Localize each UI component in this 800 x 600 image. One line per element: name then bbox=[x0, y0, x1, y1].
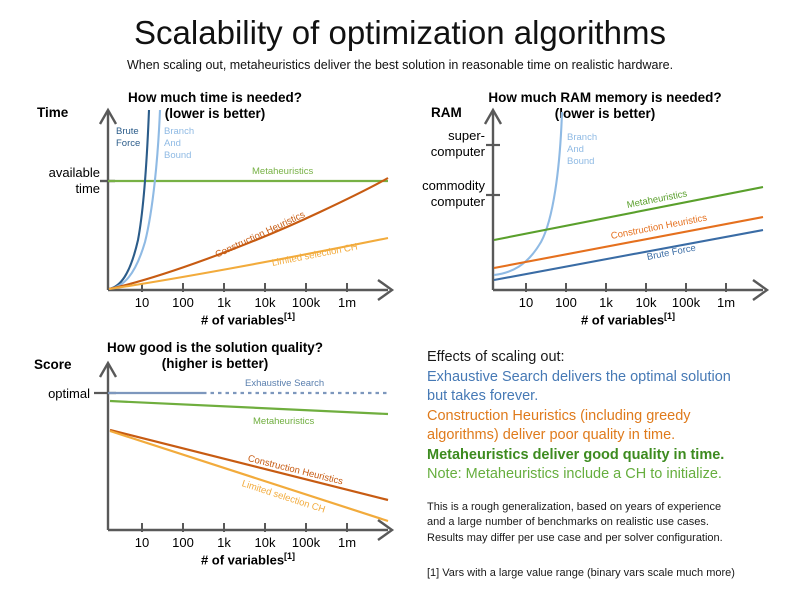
time-label-brute-force: BruteForce bbox=[116, 126, 140, 150]
time-label-metaheuristics: Metaheuristics bbox=[252, 166, 313, 177]
effects-line-1: but takes forever. bbox=[427, 387, 787, 407]
quality-label-exhaustive-search: Exhaustive Search bbox=[245, 378, 324, 389]
slide-root: Scalability of optimization algorithms W… bbox=[0, 0, 800, 600]
page-subtitle: When scaling out, metaheuristics deliver… bbox=[0, 58, 800, 72]
quality-x-tick-2: 1k bbox=[217, 535, 231, 550]
ram-x-tick-4: 100k bbox=[672, 295, 700, 310]
time-x-tick-5: 1m bbox=[338, 295, 356, 310]
effects-line-2: Construction Heuristics (including greed… bbox=[427, 407, 787, 427]
ram-x-axis-name: # of variables[1] bbox=[581, 311, 675, 327]
quality-x-tick-5: 1m bbox=[338, 535, 356, 550]
effects-panel: Effects of scaling out: Exhaustive Searc… bbox=[427, 348, 787, 581]
quality-x-axis-name: # of variables[1] bbox=[201, 551, 295, 567]
effects-line-0: Exhaustive Search delivers the optimal s… bbox=[427, 368, 787, 388]
quality-series-limited-selection-ch bbox=[110, 431, 388, 521]
quality-x-tick-1: 100 bbox=[172, 535, 194, 550]
effects-heading: Effects of scaling out: bbox=[427, 348, 787, 368]
ram-chart-canvas bbox=[415, 90, 795, 330]
ram-series-construction-heuristics bbox=[494, 217, 763, 268]
effects-line-4: Metaheuristics deliver good quality in t… bbox=[427, 446, 787, 466]
ram-x-tick-2: 1k bbox=[599, 295, 613, 310]
quality-x-tick-3: 10k bbox=[255, 535, 276, 550]
disclaimer-line-1: and a large number of benchmarks on real… bbox=[427, 515, 787, 531]
quality-chart-panel: How good is the solution quality? (highe… bbox=[20, 335, 410, 590]
quality-x-tick-0: 10 bbox=[135, 535, 149, 550]
quality-label-metaheuristics: Metaheuristics bbox=[253, 416, 314, 427]
time-x-tick-0: 10 bbox=[135, 295, 149, 310]
time-x-tick-4: 100k bbox=[292, 295, 320, 310]
ram-label-branch-and-bound: BranchAndBound bbox=[567, 132, 597, 168]
ram-chart-panel: How much RAM memory is needed? (lower is… bbox=[415, 90, 795, 330]
ram-x-tick-1: 100 bbox=[555, 295, 577, 310]
time-x-tick-1: 100 bbox=[172, 295, 194, 310]
disclaimer-line-2: Results may differ per use case and per … bbox=[427, 531, 787, 547]
ram-series-branch-and-bound bbox=[494, 112, 562, 275]
disclaimer-line-0: This is a rough generalization, based on… bbox=[427, 500, 787, 516]
ram-x-tick-5: 1m bbox=[717, 295, 735, 310]
time-x-tick-3: 10k bbox=[255, 295, 276, 310]
time-chart-canvas bbox=[20, 90, 410, 330]
ram-x-tick-3: 10k bbox=[636, 295, 657, 310]
effects-line-3: algorithms) deliver poor quality in time… bbox=[427, 426, 787, 446]
effects-line-5: Note: Metaheuristics include a CH to ini… bbox=[427, 465, 787, 485]
page-title: Scalability of optimization algorithms bbox=[0, 14, 800, 52]
time-chart-panel: How much time is needed? (lower is bette… bbox=[20, 90, 410, 330]
time-x-tick-2: 1k bbox=[217, 295, 231, 310]
quality-axes bbox=[94, 363, 392, 540]
time-x-axis-name: # of variables[1] bbox=[201, 311, 295, 327]
quality-x-tick-4: 100k bbox=[292, 535, 320, 550]
time-label-branch-and-bound: BranchAndBound bbox=[164, 126, 194, 162]
quality-series-metaheuristics bbox=[110, 401, 388, 414]
ram-x-tick-0: 10 bbox=[519, 295, 533, 310]
effects-footnote: [1] Vars with a large value range (binar… bbox=[427, 566, 787, 581]
effects-disclaimer: This is a rough generalization, based on… bbox=[427, 500, 787, 547]
